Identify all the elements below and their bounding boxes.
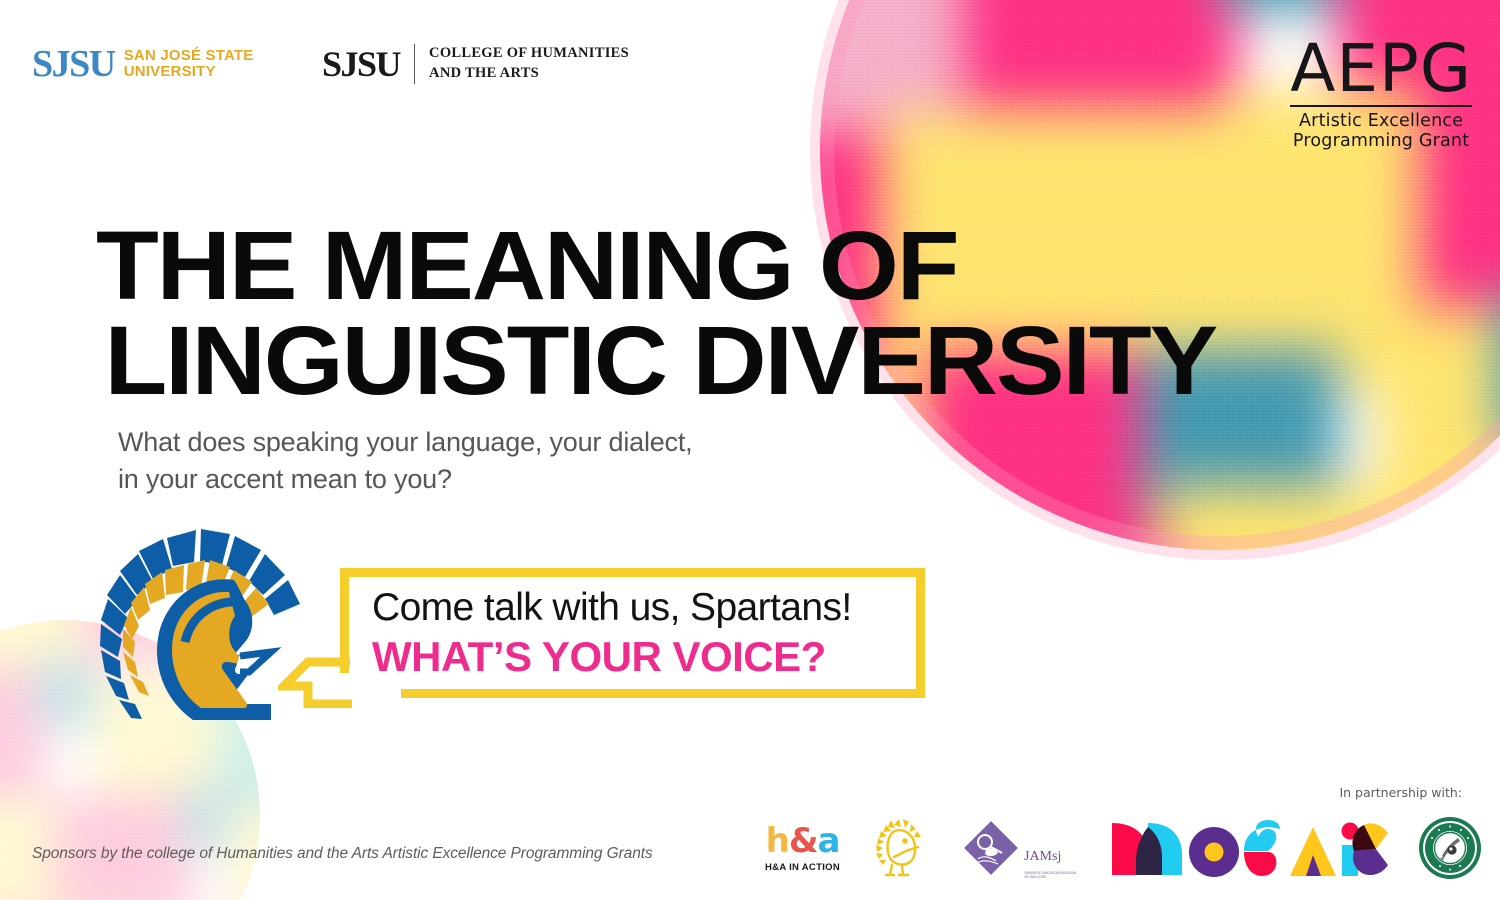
jamsj-logo: JAMsj JAPANESE AMERICAN MUSEUM OF SAN JO… bbox=[960, 817, 1080, 879]
poster-canvas: SJSU SAN JOSÉ STATE UNIVERSITY SJSU COLL… bbox=[0, 0, 1500, 900]
spartan-helmet-icon bbox=[93, 522, 313, 737]
speech-bubble-callout: Come talk with us, Spartans! WHAT’S YOUR… bbox=[340, 568, 925, 698]
bird-icon bbox=[870, 817, 930, 879]
sjsu-cha-wordmark: SJSU bbox=[322, 46, 400, 82]
aepg-logo: AEPG Artistic Excellence Programming Gra… bbox=[1290, 38, 1472, 152]
school-of-visual-philosophy-seal bbox=[1418, 816, 1482, 880]
ha-glyph-h: h bbox=[766, 821, 789, 861]
ha-in-action-logo: h&a H&A IN ACTION bbox=[765, 824, 840, 873]
sjsu-university-name-line2: UNIVERSITY bbox=[124, 64, 254, 80]
page-title-line1: THE MEANING OF bbox=[96, 218, 1216, 313]
ha-glyph-a: a bbox=[817, 821, 839, 861]
college-name-line1: COLLEGE OF HUMANITIES bbox=[429, 44, 629, 64]
jamsj-tagline: JAPANESE AMERICAN MUSEUM OF SAN JOSE bbox=[1024, 871, 1080, 879]
page-subtitle-line1: What does speaking your language, your d… bbox=[118, 424, 692, 461]
callout-line1: Come talk with us, Spartans! bbox=[372, 586, 912, 631]
sjsu-college-of-humanities-and-the-arts-logo: SJSU COLLEGE OF HUMANITIES AND THE ARTS bbox=[322, 44, 629, 84]
aepg-subtitle: Artistic Excellence Programming Grant bbox=[1290, 111, 1472, 152]
jamsj-diamond-icon bbox=[960, 817, 1022, 879]
mosaic-logo bbox=[1110, 820, 1388, 876]
seal-icon bbox=[1418, 816, 1482, 880]
sponsor-logo-row: h&a H&A IN ACTION bbox=[765, 808, 1482, 888]
college-name-line2: AND THE ARTS bbox=[429, 64, 629, 84]
ha-caption: H&A IN ACTION bbox=[765, 862, 840, 873]
jamsj-text-block: JAMsj JAPANESE AMERICAN MUSEUM OF SAN JO… bbox=[1024, 849, 1080, 879]
page-title: THE MEANING OF LINGUISTIC DIVERSITY bbox=[96, 218, 1216, 408]
page-subtitle-line2: in your accent mean to you? bbox=[118, 461, 692, 498]
ha-glyph-amp: & bbox=[789, 821, 818, 861]
yellow-bird-logo bbox=[870, 817, 930, 879]
sponsor-note: Sponsors by the college of Humanities an… bbox=[32, 845, 653, 863]
sjsu-university-name-line1: SAN JOSÉ STATE bbox=[124, 48, 254, 64]
page-subtitle: What does speaking your language, your d… bbox=[118, 424, 692, 499]
partnership-label: In partnership with: bbox=[1339, 785, 1462, 800]
aepg-subtitle-line1: Artistic Excellence bbox=[1290, 111, 1472, 132]
sjsu-spartan-helmet-logo bbox=[93, 522, 313, 737]
poster-header: SJSU SAN JOSÉ STATE UNIVERSITY SJSU COLL… bbox=[0, 0, 1500, 130]
sjsu-wordmark: SJSU bbox=[32, 45, 115, 83]
aepg-acronym: AEPG bbox=[1290, 38, 1472, 101]
ha-glyph: h&a bbox=[765, 824, 840, 858]
mosaic-wordmark-icon bbox=[1110, 819, 1388, 877]
page-title-line2: LINGUISTIC DIVERSITY bbox=[96, 313, 1216, 408]
sjsu-university-name: SAN JOSÉ STATE UNIVERSITY bbox=[124, 48, 254, 80]
college-name: COLLEGE OF HUMANITIES AND THE ARTS bbox=[429, 44, 629, 83]
speech-bubble-text: Come talk with us, Spartans! WHAT’S YOUR… bbox=[372, 586, 912, 680]
jamsj-wordmark: JAMsj bbox=[1024, 849, 1080, 865]
sjsu-university-logo: SJSU SAN JOSÉ STATE UNIVERSITY bbox=[32, 45, 253, 83]
callout-line2: WHAT’S YOUR VOICE? bbox=[372, 633, 912, 680]
logo-divider-rule bbox=[414, 44, 415, 84]
aepg-subtitle-line2: Programming Grant bbox=[1290, 131, 1472, 152]
